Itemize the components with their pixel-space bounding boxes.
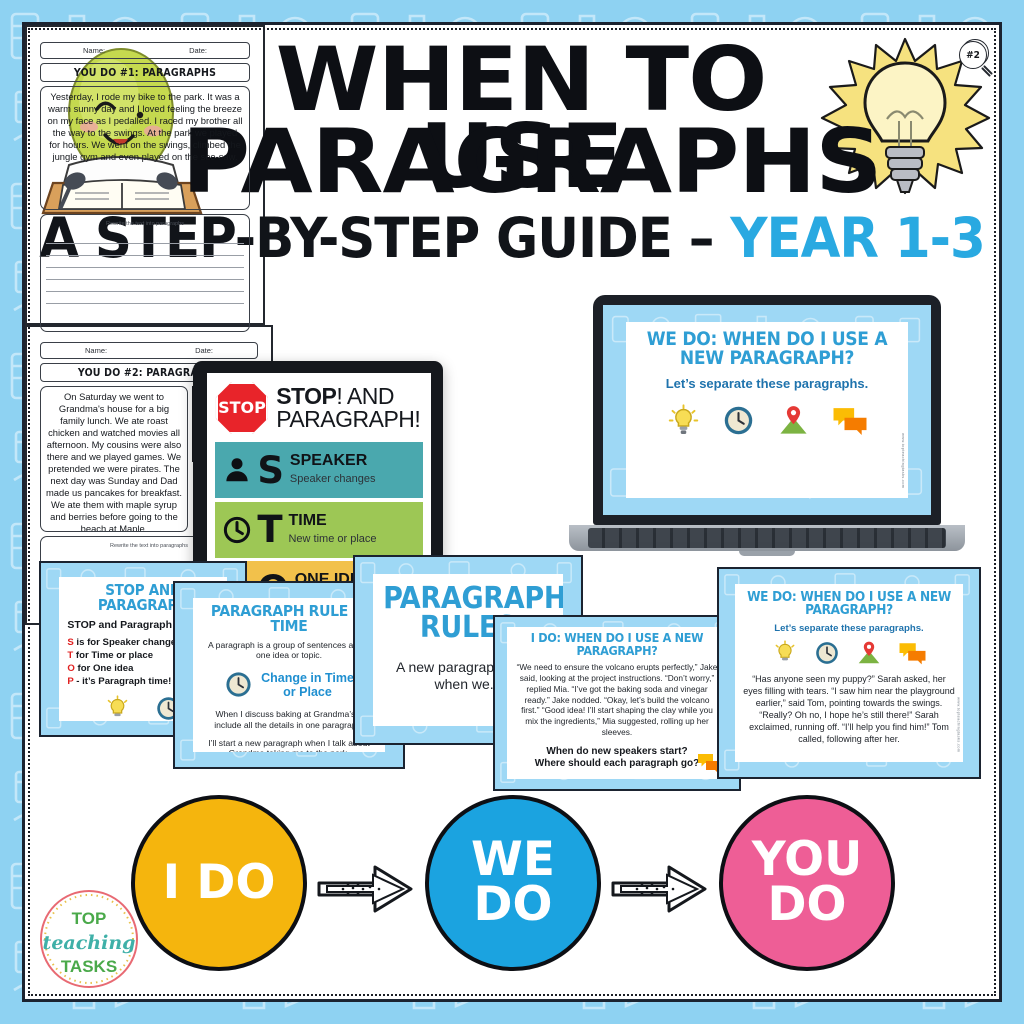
- card-we-do-icon-row: [743, 640, 956, 666]
- worksheet1-name-date-row: Name: Date:: [40, 42, 250, 59]
- card-rule2-body-2: I’ll start a new paragraph when I talk a…: [202, 738, 376, 753]
- flow-arrow-2: [611, 863, 707, 915]
- stop-letter-s: S: [257, 449, 284, 492]
- logo-line-1: TOP: [72, 909, 107, 928]
- stop-chart-header: STOP STOP! AND PARAGRAPH!: [207, 373, 431, 438]
- stop-row-time: T TIME New time or place: [215, 502, 423, 558]
- flow-step-i-do-label: I DO: [163, 861, 276, 906]
- worksheet1-rewrite-label: Rewrite the text into paragraphs: [46, 221, 244, 227]
- card-we-do-watermark: www.topteachingtasks.com: [956, 697, 961, 752]
- brand-logo[interactable]: TOP teaching TASKS: [37, 887, 141, 991]
- flow-arrow-1: [317, 863, 413, 915]
- flow-step-you-do[interactable]: YOU DO: [719, 795, 895, 971]
- card-i-do-questions: When do new speakers start? Where should…: [515, 746, 719, 770]
- laptop-slide-watermark: www.topteachingtasks.com: [901, 433, 906, 488]
- clock-icon: [222, 515, 252, 545]
- stop-mnemonic-text-t: for Time or place: [73, 650, 153, 661]
- stop-mnemonic-text-s: is for Speaker changes: [74, 637, 182, 648]
- card-i-do-title: I DO: WHEN DO I USE A NEW PARAGRAPH?: [515, 632, 719, 657]
- stop-sub-time: New time or place: [288, 533, 376, 545]
- stop-sub-speaker: Speaker changes: [290, 473, 376, 485]
- worksheet2-date-label: Date:: [195, 346, 213, 355]
- worksheet1-title: YOU DO #1: PARAGRAPHS: [40, 63, 250, 82]
- clock-icon: [224, 670, 253, 699]
- worksheet1-passage: Yesterday, I rode my bike to the park. I…: [40, 86, 250, 210]
- stop-label-time: TIME New time or place: [288, 513, 376, 547]
- right-arrow-icon: [317, 863, 413, 915]
- laptop-trackpad-notch: [739, 551, 795, 556]
- stop-label-speaker-text: SPEAKER: [290, 452, 367, 469]
- laptop-slide-title: WE DO: WHEN DO I USE A NEW PARAGRAPH?: [634, 330, 900, 368]
- flow-step-you-do-label-2: DO: [768, 883, 847, 928]
- stop-sign-icon: STOP: [216, 382, 268, 434]
- stop-title-line2: PARAGRAPH!: [276, 406, 420, 432]
- card-rule2-intro: A paragraph is a group of sentences abou…: [202, 640, 376, 661]
- lightbulb-icon: [104, 695, 131, 722]
- laptop-keyboard: [588, 528, 945, 548]
- clock-icon: [722, 404, 755, 437]
- speech-bubbles-icon: [832, 404, 868, 437]
- map-pin-icon: [777, 404, 810, 437]
- top-teaching-tasks-logo: TOP teaching TASKS: [37, 887, 141, 991]
- logo-line-2: teaching: [43, 932, 136, 954]
- laptop-slide-content: WE DO: WHEN DO I USE A NEW PARAGRAPH? Le…: [626, 322, 908, 498]
- card-we-do-subtitle: Let’s separate these paragraphs.: [743, 623, 956, 634]
- speech-bubbles-icon: [898, 640, 927, 666]
- right-arrow-icon: [611, 863, 707, 915]
- card-rule2-body-1: When I discuss baking at Grandma’s, I in…: [202, 709, 376, 730]
- card-i-do-question-1: When do new speakers start?: [546, 746, 687, 757]
- stop-title-rest: ! AND: [336, 383, 394, 409]
- worksheet1-name-label: Name:: [83, 46, 105, 55]
- stop-title-bold: STOP: [276, 383, 336, 409]
- lightbulb-icon: [772, 640, 798, 666]
- card-i-do-question-2: Where should each paragraph go?: [535, 758, 699, 769]
- stop-mnemonic-text-p: - it’s Paragraph time!: [74, 676, 172, 687]
- lightbulb-icon: [667, 404, 700, 437]
- flow-step-we-do[interactable]: WE DO: [425, 795, 601, 971]
- card-i-do-content: I DO: WHEN DO I USE A NEW PARAGRAPH? “We…: [507, 627, 727, 778]
- laptop-screen: WE DO: WHEN DO I USE A NEW PARAGRAPH? Le…: [593, 295, 941, 525]
- laptop-base: [569, 525, 966, 551]
- subtitle-year-range: YEAR 1-3: [730, 206, 984, 270]
- laptop-device[interactable]: WE DO: WHEN DO I USE A NEW PARAGRAPH? Le…: [593, 295, 941, 525]
- laptop-slide-subtitle: Let’s separate these paragraphs.: [634, 377, 900, 392]
- card-we-do-content: WE DO: WHEN DO I USE A NEW PARAGRAPH? Le…: [735, 584, 964, 763]
- clock-icon: [814, 640, 840, 666]
- card-i-do-passage: “We need to ensure the volcano erupts pe…: [515, 662, 719, 737]
- slide-we-do-laptop: WE DO: WHEN DO I USE A NEW PARAGRAPH? Le…: [603, 305, 931, 515]
- card-rule2-rule-label-1: Change in Time: [261, 671, 354, 685]
- worksheet2-number-badge: #2: [959, 41, 987, 69]
- stop-letter-t: T: [257, 508, 282, 551]
- stop-mnemonic-letter-o: O: [67, 663, 74, 674]
- worksheet2-name-date-row: Name: Date:: [40, 342, 258, 359]
- page-title-line-2: PARAGRAPHS: [182, 123, 860, 200]
- card-rule2-rule-label-2: or Place: [283, 685, 332, 699]
- card-we-do-passage: “Has anyone seen my puppy?” Sarah asked,…: [743, 673, 956, 746]
- poster-card: WHEN TO USE PARAGRAPHS A STEP-BY-STEP GU…: [22, 22, 1002, 1002]
- worksheet2-passage: On Saturday we went to Grandma's house f…: [40, 386, 188, 532]
- poster-canvas: WHEN TO USE PARAGRAPHS A STEP-BY-STEP GU…: [0, 0, 1024, 1024]
- worksheet1-date-label: Date:: [189, 46, 207, 55]
- card-we-do-title: WE DO: WHEN DO I USE A NEW PARAGRAPH?: [743, 591, 956, 618]
- stop-label-time-text: TIME: [288, 512, 326, 529]
- flow-step-we-do-label-2: DO: [474, 883, 553, 928]
- card-rules-body-line-2: when we...: [435, 676, 502, 692]
- card-rule2-title: PARAGRAPH RULE 2: TIME: [202, 604, 376, 635]
- flow-step-i-do[interactable]: I DO: [131, 795, 307, 971]
- stop-row-speaker: S SPEAKER Speaker changes: [215, 442, 423, 498]
- worksheet1-answer-lines: Rewrite the text into paragraphs: [40, 214, 250, 332]
- card-we-do-new-paragraph[interactable]: WE DO: WHEN DO I USE A NEW PARAGRAPH? Le…: [717, 567, 981, 779]
- person-icon: [222, 455, 252, 485]
- logo-line-3: TASKS: [61, 957, 117, 976]
- card-i-do-new-paragraph[interactable]: I DO: WHEN DO I USE A NEW PARAGRAPH? “We…: [493, 615, 741, 791]
- worksheet2-name-label: Name:: [85, 346, 107, 355]
- laptop-slide-icon-row: [634, 404, 900, 437]
- map-pin-icon: [856, 640, 882, 666]
- worksheet-you-do-1[interactable]: Name: Date: YOU DO #1: PARAGRAPHS Yester…: [25, 25, 265, 325]
- stop-mnemonic-text-o: for One idea: [75, 663, 134, 674]
- stop-chart-title: STOP! AND PARAGRAPH!: [276, 385, 420, 432]
- stop-label-speaker: SPEAKER Speaker changes: [290, 453, 376, 487]
